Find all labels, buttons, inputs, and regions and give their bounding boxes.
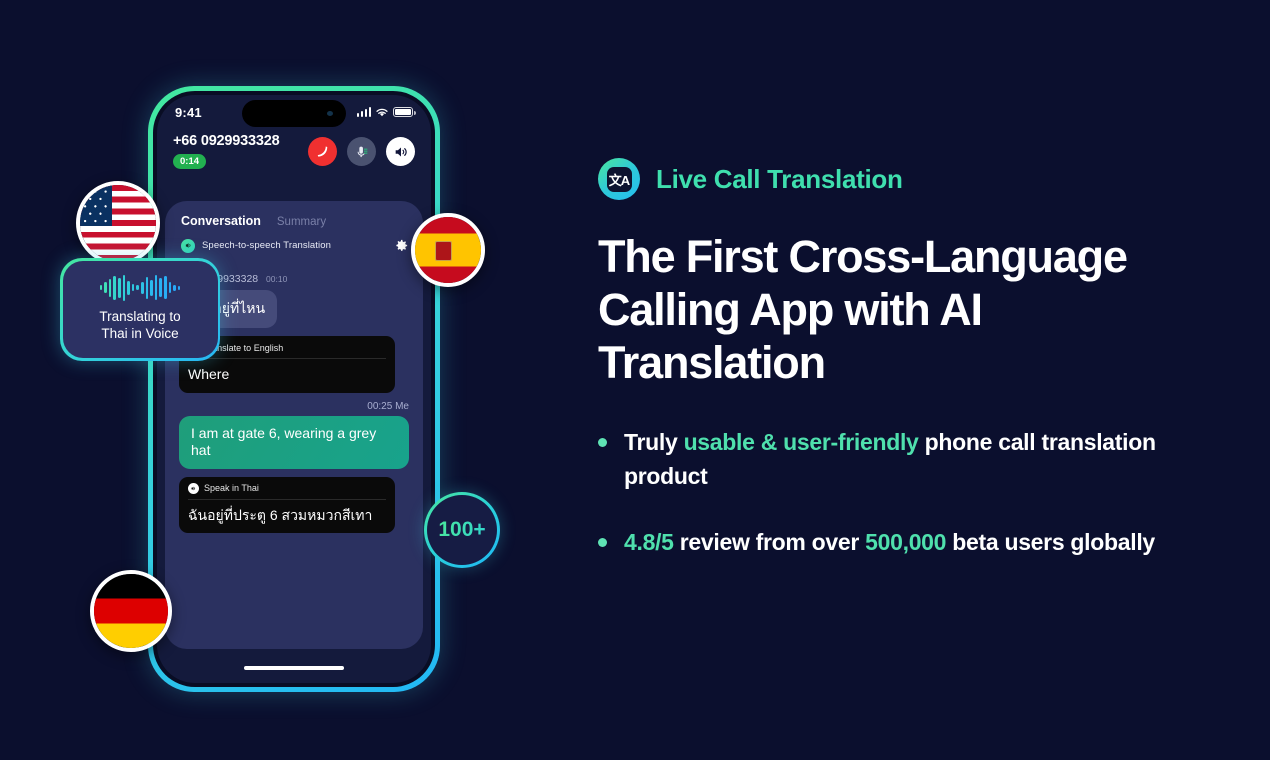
message-time-outgoing: 00:25 — [367, 401, 392, 412]
call-timer-badge: 0:14 — [173, 154, 206, 169]
home-indicator — [244, 666, 344, 670]
call-phone-number: +66 0929933328 — [173, 133, 279, 149]
bullet-plain: review from over — [674, 529, 865, 555]
list-item: 4.8/5 review from over 500,000 beta user… — [598, 525, 1198, 559]
status-indicators — [357, 107, 414, 118]
phone-body: 9:41 +66 0929933328 — [153, 91, 435, 687]
audio-waveform-icon — [73, 275, 208, 301]
speech-translation-icon — [181, 239, 195, 253]
translation-card-thai: Speak in Thai ฉันอยู่ที่ประตู 6 สวมหมวกส… — [179, 477, 395, 534]
translation-mode-label: Speech-to-speech Translation — [202, 240, 387, 251]
microphone-button[interactable] — [347, 137, 376, 166]
bullet-dot-icon — [598, 538, 607, 547]
bullet-plain: beta users globally — [946, 529, 1155, 555]
flag-de-icon — [90, 570, 172, 652]
conversation-tabs: Conversation Summary — [165, 201, 423, 236]
language-count-text: 100+ — [438, 518, 485, 542]
message-bubble-outgoing: I am at gate 6, wearing a grey hat — [179, 416, 409, 469]
tab-conversation[interactable]: Conversation — [181, 214, 261, 228]
list-item: Truly usable & user-friendly phone call … — [598, 425, 1198, 493]
translate-glyph: 文A — [607, 167, 632, 192]
dynamic-island — [242, 100, 346, 127]
translation-card-header-thai: Speak in Thai — [188, 483, 386, 500]
call-identity: +66 0929933328 0:14 — [173, 133, 279, 169]
end-call-button[interactable] — [308, 137, 337, 166]
translation-card-text-thai: ฉันอยู่ที่ประตู 6 สวมหมวกสีเทา — [188, 500, 386, 525]
translating-popup-inner: Translating to Thai in Voice — [63, 261, 218, 359]
status-bar: 9:41 — [157, 95, 431, 129]
translation-card-text: Where — [188, 359, 386, 384]
phone-screen: 9:41 +66 0929933328 — [157, 95, 431, 683]
message-sender-outgoing: Me — [395, 401, 409, 412]
speaker-icon — [188, 483, 199, 494]
call-header: +66 0929933328 0:14 — [157, 129, 431, 181]
language-count-badge: 100+ — [424, 492, 500, 568]
bullet-text: 4.8/5 review from over 500,000 beta user… — [624, 525, 1155, 559]
wifi-icon — [375, 107, 389, 118]
gear-icon[interactable] — [394, 238, 409, 253]
translating-popup-line2: Thai in Voice — [73, 325, 208, 342]
translate-icon: 文A — [598, 158, 640, 200]
translating-popup-line1: Translating to — [73, 308, 208, 325]
message-meta-outgoing: 00:25 Me — [179, 401, 409, 412]
translation-mode-row: Speech-to-speech Translation — [165, 236, 423, 253]
cellular-signal-icon — [357, 107, 372, 117]
message-time: 00:10 — [266, 274, 287, 284]
battery-icon — [393, 107, 413, 117]
bullet-highlight: 4.8/5 — [624, 529, 674, 555]
flag-us-icon — [76, 181, 160, 265]
speaker-button[interactable] — [386, 137, 415, 166]
bullet-list: Truly usable & user-friendly phone call … — [598, 425, 1198, 559]
page-title: The First Cross-Language Calling App wit… — [598, 230, 1198, 389]
call-action-buttons — [308, 133, 415, 166]
translation-card-title-thai: Speak in Thai — [204, 483, 259, 493]
bullet-text: Truly usable & user-friendly phone call … — [624, 425, 1198, 493]
bullet-plain: Truly — [624, 429, 684, 455]
bullet-highlight: usable & user-friendly — [684, 429, 919, 455]
content-panel: 文A Live Call Translation The First Cross… — [598, 158, 1198, 591]
phone-frame: 9:41 +66 0929933328 — [148, 86, 440, 692]
bullet-highlight: 500,000 — [865, 529, 946, 555]
status-time: 9:41 — [175, 105, 202, 120]
translating-popup: Translating to Thai in Voice — [60, 258, 220, 361]
phone-mockup-stage: 9:41 +66 0929933328 — [0, 0, 560, 760]
eyebrow: 文A Live Call Translation — [598, 158, 1198, 200]
flag-es-icon — [411, 213, 485, 287]
eyebrow-label: Live Call Translation — [656, 164, 903, 195]
bullet-dot-icon — [598, 438, 607, 447]
tab-summary[interactable]: Summary — [277, 216, 326, 228]
